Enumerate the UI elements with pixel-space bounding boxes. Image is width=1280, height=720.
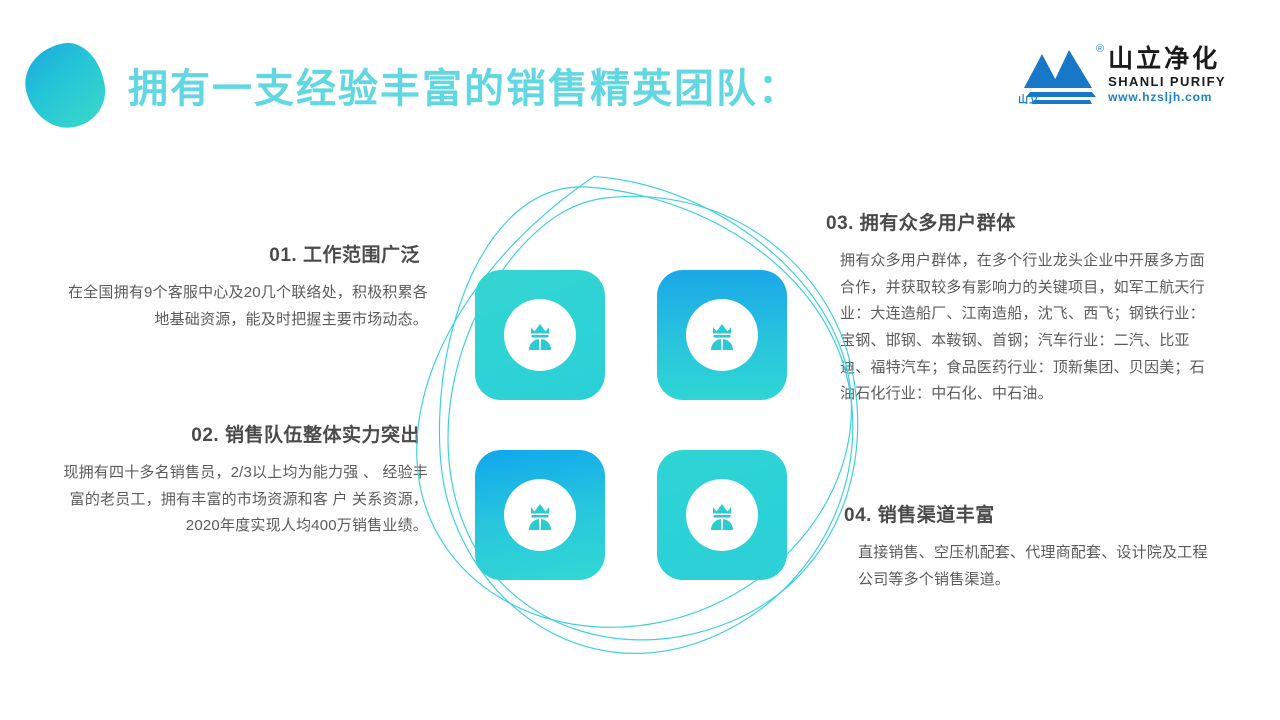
tile-1-circle	[504, 299, 576, 371]
section-02-heading: 02. 销售队伍整体实力突出	[62, 420, 428, 447]
tile-1[interactable]	[475, 270, 605, 400]
section-01-heading: 01. 工作范围广泛	[62, 240, 428, 267]
section-02: 02. 销售队伍整体实力突出 现拥有四十多名销售员，2/3以上均为能力强 、 经…	[62, 420, 428, 540]
crowned-person-icon	[520, 315, 560, 355]
crowned-person-icon	[520, 495, 560, 535]
tile-2-circle	[686, 299, 758, 371]
page-title: 拥有一支经验丰富的销售精英团队：	[128, 56, 800, 114]
logo-company-en: SHANLI PURIFY	[1108, 75, 1226, 88]
section-02-number: 02.	[191, 425, 219, 446]
crowned-person-icon	[702, 315, 742, 355]
section-01-body: 在全国拥有9个客服中心及20几个联络处，积极积累各地基础资源，能及时把握主要市场…	[62, 280, 428, 333]
section-01-number: 01.	[269, 245, 297, 266]
logo-mark-label: 山立	[1018, 91, 1040, 106]
tile-2[interactable]	[657, 270, 787, 400]
header-blob-decoration	[18, 37, 112, 135]
logo-wordmark: 山立净化 SHANLI PURIFY www.hzsljh.com	[1108, 47, 1226, 103]
registered-trademark-icon: ®	[1096, 44, 1104, 55]
tile-4[interactable]	[657, 450, 787, 580]
tile-3[interactable]	[475, 450, 605, 580]
logo-company-cn: 山立净化	[1108, 47, 1226, 72]
section-02-body: 现拥有四十多名销售员，2/3以上均为能力强 、 经验丰富的老员工，拥有丰富的市场…	[62, 460, 428, 540]
center-graphic	[400, 170, 900, 680]
section-04: 04. 销售渠道丰富 直接销售、空压机配套、代理商配套、设计院及工程公司等多个销…	[858, 500, 1214, 593]
tile-3-circle	[504, 479, 576, 551]
slide-canvas: 拥有一支经验丰富的销售精英团队： ® 山立 山立净化 SHANLI PURIFY…	[0, 0, 1280, 720]
section-04-body: 直接销售、空压机配套、代理商配套、设计院及工程公司等多个销售渠道。	[858, 540, 1214, 593]
company-logo: ® 山立 山立净化 SHANLI PURIFY www.hzsljh.com	[1018, 44, 1226, 106]
tile-grid	[475, 270, 787, 580]
mountain-logo-icon: ® 山立	[1018, 44, 1100, 106]
logo-website: www.hzsljh.com	[1108, 91, 1226, 103]
crowned-person-icon	[702, 495, 742, 535]
section-01: 01. 工作范围广泛 在全国拥有9个客服中心及20几个联络处，积极积累各地基础资…	[62, 240, 428, 333]
section-02-title: 销售队伍整体实力突出	[225, 425, 420, 446]
tile-4-circle	[686, 479, 758, 551]
